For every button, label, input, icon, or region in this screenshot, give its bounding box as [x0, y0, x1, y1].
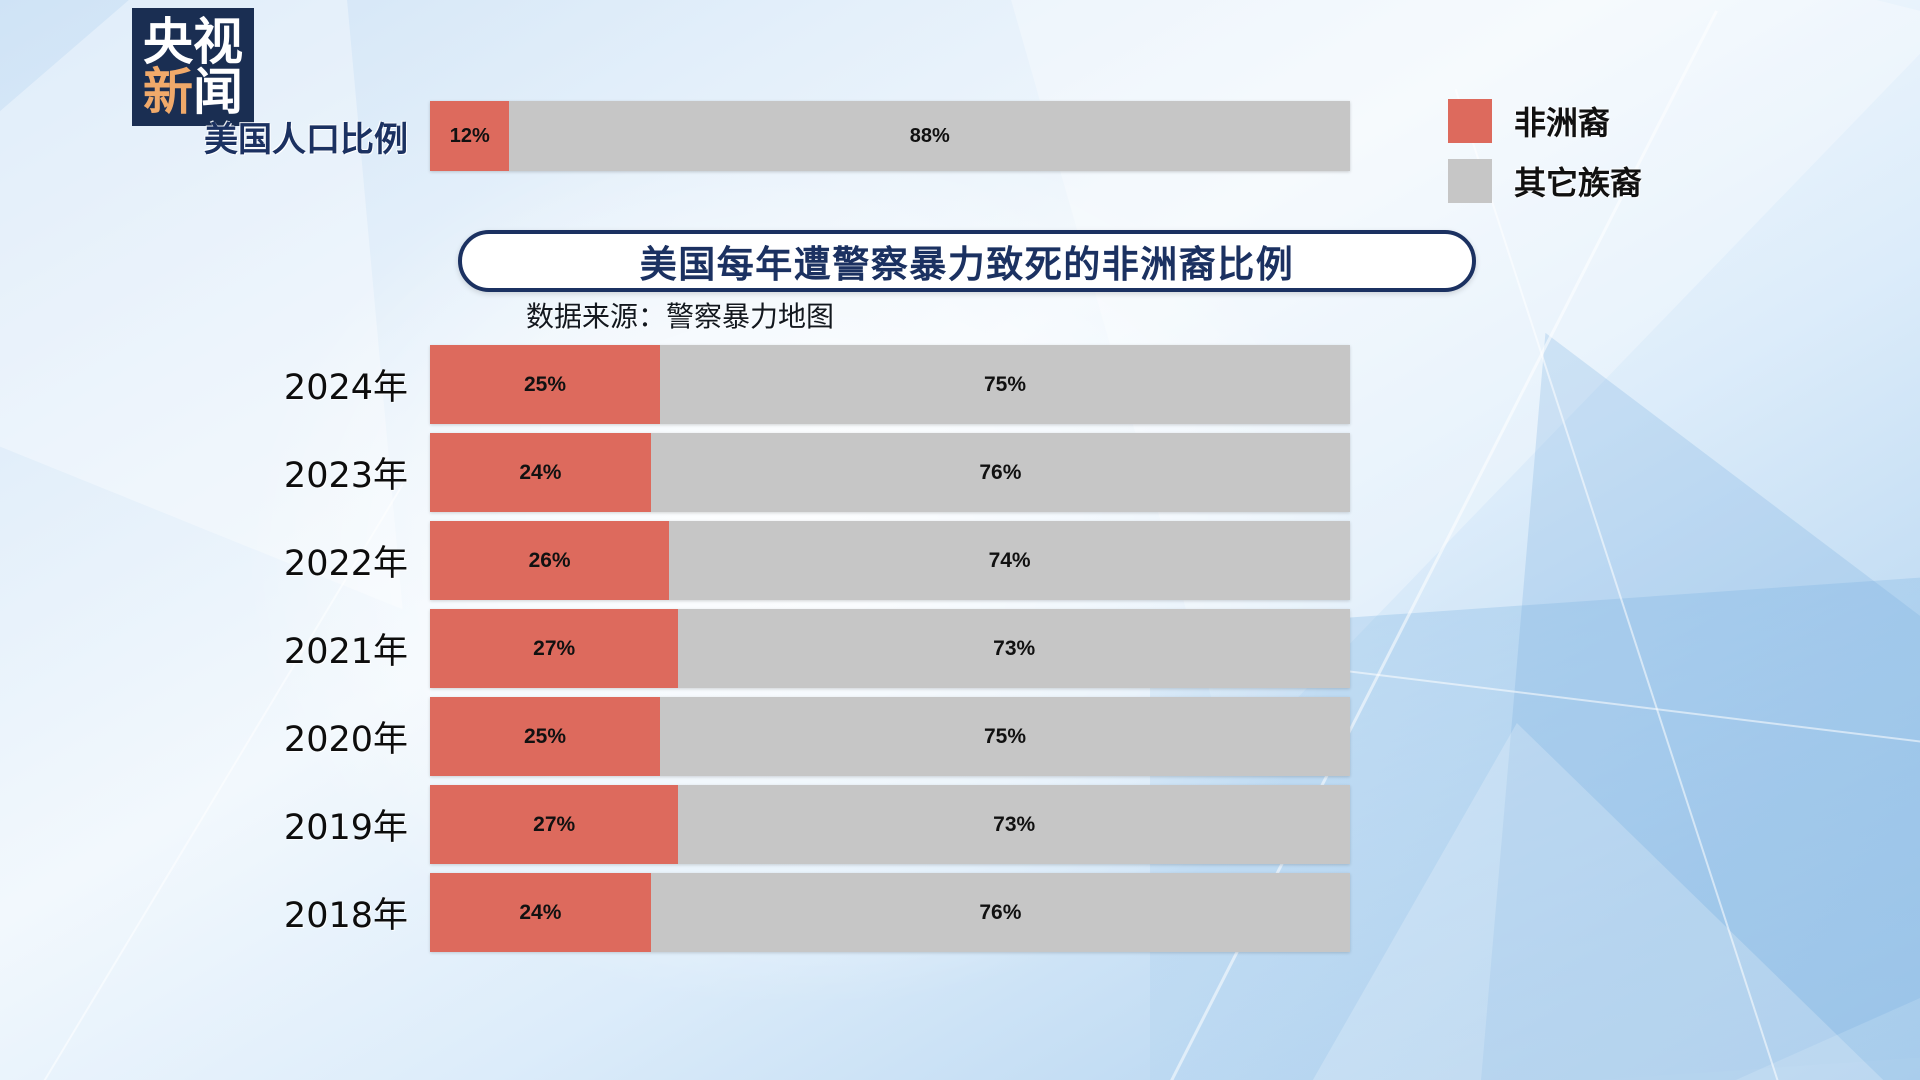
african-segment: 26% [430, 521, 669, 600]
logo-char-shi: 视 [193, 17, 243, 67]
other-segment: 73% [678, 609, 1350, 688]
logo-line-1: 央 视 [143, 17, 243, 67]
year-row: 2024年25%75% [175, 345, 1350, 424]
african-segment: 27% [430, 609, 678, 688]
year-row: 2020年25%75% [175, 697, 1350, 776]
data-source-text: 数据来源：警察暴力地图 [526, 300, 834, 333]
year-row: 2023年24%76% [175, 433, 1350, 512]
year-stacked-bar: 24%76% [430, 873, 1350, 952]
legend-item-other: 其它族裔 [1448, 158, 1642, 204]
african-segment: 25% [430, 345, 660, 424]
other-segment: 73% [678, 785, 1350, 864]
african-segment: 24% [430, 873, 651, 952]
population-reference-row: 美国人口比例 12% 88% [175, 100, 1350, 172]
population-stacked-bar: 12% 88% [430, 101, 1350, 171]
year-row: 2021年27%73% [175, 609, 1350, 688]
red-swatch-icon [1448, 99, 1492, 143]
year-label: 2018年 [175, 887, 430, 938]
year-label: 2019年 [175, 799, 430, 850]
african-segment: 27% [430, 785, 678, 864]
year-label: 2023年 [175, 447, 430, 498]
infographic-canvas: 央 视 新 闻 美国人口比例 12% 88% 非洲裔 其它族裔 美国每年遭警察暴… [0, 0, 1920, 1080]
logo-char-yang: 央 [143, 17, 193, 67]
population-african-segment: 12% [430, 101, 509, 171]
african-segment: 25% [430, 697, 660, 776]
other-segment: 74% [669, 521, 1350, 600]
year-stacked-bar: 25%75% [430, 697, 1350, 776]
other-segment: 76% [651, 873, 1350, 952]
african-segment: 24% [430, 433, 651, 512]
chart-title-pill: 美国每年遭警察暴力致死的非洲裔比例 [458, 230, 1476, 292]
background-line-2 [1455, 89, 1828, 1080]
legend-label-other: 其它族裔 [1514, 158, 1642, 204]
chart-legend: 非洲裔 其它族裔 [1448, 98, 1642, 204]
data-source-line: 数据来源：警察暴力地图 [0, 295, 1920, 335]
legend-item-african: 非洲裔 [1448, 98, 1642, 144]
gray-swatch-icon [1448, 159, 1492, 203]
population-other-segment: 88% [509, 101, 1350, 171]
year-label: 2020年 [175, 711, 430, 762]
other-segment: 75% [660, 345, 1350, 424]
other-segment: 75% [660, 697, 1350, 776]
other-segment: 76% [651, 433, 1350, 512]
year-stacked-bar: 26%74% [430, 521, 1350, 600]
year-stacked-bar: 25%75% [430, 345, 1350, 424]
year-stacked-bar: 27%73% [430, 785, 1350, 864]
year-row: 2018年24%76% [175, 873, 1350, 952]
year-label: 2022年 [175, 535, 430, 586]
year-row: 2022年26%74% [175, 521, 1350, 600]
year-label: 2021年 [175, 623, 430, 674]
page-title: 美国每年遭警察暴力致死的非洲裔比例 [640, 234, 1295, 288]
population-row-label: 美国人口比例 [175, 112, 430, 161]
year-row: 2019年27%73% [175, 785, 1350, 864]
year-label: 2024年 [175, 359, 430, 410]
yearly-bars-container: 2024年25%75%2023年24%76%2022年26%74%2021年27… [175, 345, 1350, 961]
year-stacked-bar: 24%76% [430, 433, 1350, 512]
legend-label-african: 非洲裔 [1514, 98, 1610, 144]
year-stacked-bar: 27%73% [430, 609, 1350, 688]
